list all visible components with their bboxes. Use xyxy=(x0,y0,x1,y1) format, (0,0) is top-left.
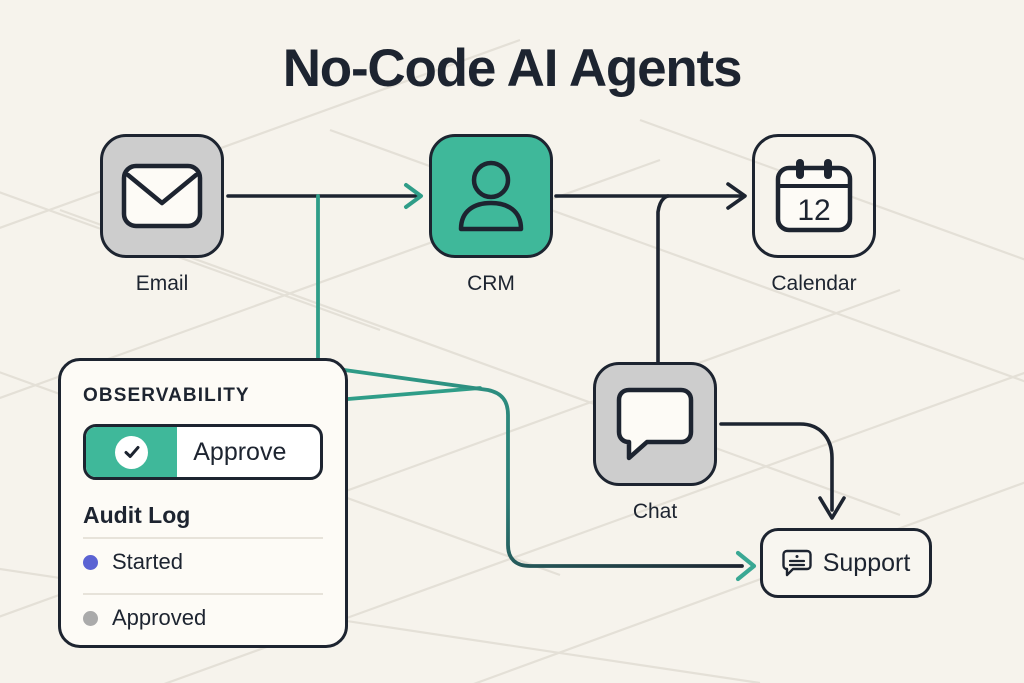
connector-crm-to-chat xyxy=(658,196,668,362)
node-chat-box[interactable] xyxy=(593,362,717,486)
support-chat-icon xyxy=(782,548,812,578)
node-crm-label: CRM xyxy=(467,272,515,296)
audit-log-label: Approved xyxy=(112,605,206,631)
speech-bubble-icon xyxy=(615,385,695,463)
status-dot-started xyxy=(83,555,98,570)
node-email[interactable]: Email xyxy=(100,134,224,296)
connector-chat-to-support xyxy=(721,424,844,518)
node-crm[interactable]: CRM xyxy=(429,134,553,296)
approve-toggle[interactable]: Approve xyxy=(83,424,323,480)
diagram-canvas: No-Code AI Agents xyxy=(0,0,1024,683)
node-calendar-box[interactable]: 12 xyxy=(752,134,876,258)
node-crm-box[interactable] xyxy=(429,134,553,258)
audit-log-row[interactable]: Started xyxy=(83,537,323,585)
audit-log-label: Started xyxy=(112,549,183,575)
audit-log-title: Audit Log xyxy=(83,502,323,529)
node-calendar[interactable]: 12 Calendar xyxy=(752,134,876,296)
node-calendar-label: Calendar xyxy=(771,272,856,296)
person-icon xyxy=(453,159,529,233)
calendar-12-icon: 12 xyxy=(772,156,856,236)
page-title: No-Code AI Agents xyxy=(0,38,1024,99)
approve-toggle-label: Approve xyxy=(177,427,320,477)
calendar-day-number: 12 xyxy=(797,194,830,227)
node-chat-label: Chat xyxy=(633,500,677,524)
node-email-box[interactable] xyxy=(100,134,224,258)
approve-toggle-on-section[interactable] xyxy=(86,427,177,477)
node-chat[interactable]: Chat xyxy=(593,362,717,524)
observability-card: OBSERVABILITY Approve Audit Log Started … xyxy=(58,358,348,648)
audit-log-row[interactable]: Approved xyxy=(83,593,323,641)
connector-email-to-crm xyxy=(228,185,421,207)
check-icon xyxy=(115,436,148,469)
node-support[interactable]: Support xyxy=(760,528,932,598)
envelope-icon xyxy=(121,163,203,229)
observability-heading: OBSERVABILITY xyxy=(83,385,323,407)
node-support-label: Support xyxy=(823,549,911,578)
connector-crm-to-calendar xyxy=(556,184,745,208)
node-email-label: Email xyxy=(136,272,189,296)
status-dot-approved xyxy=(83,611,98,626)
